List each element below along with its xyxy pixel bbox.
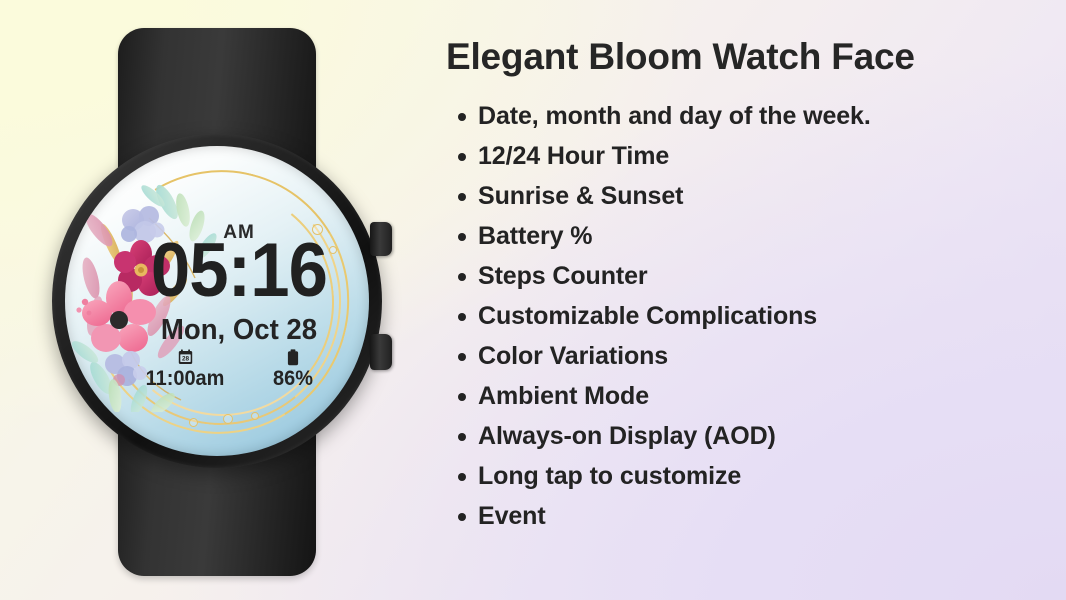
list-item: Long tap to customize <box>440 456 1040 496</box>
watch-face-complications: 28 11:00am 86% <box>143 348 335 391</box>
bullet-icon <box>458 153 466 161</box>
smartwatch-mockup: AM 05:16 Mon, Oct 28 28 <box>52 28 382 576</box>
feature-list: Date, month and day of the week. 12/24 H… <box>440 96 1040 536</box>
bullet-icon <box>458 193 466 201</box>
feature-label: Ambient Mode <box>478 382 649 410</box>
list-item: Customizable Complications <box>440 296 1040 336</box>
complication-battery-value: 86% <box>253 367 333 391</box>
list-item: Steps Counter <box>440 256 1040 296</box>
bullet-icon <box>458 313 466 321</box>
gold-wreath-bead <box>223 414 233 424</box>
feature-label: Battery % <box>478 222 592 250</box>
feature-label: Color Variations <box>478 342 668 370</box>
feature-label: Date, month and day of the week. <box>478 102 871 130</box>
complication-event-value: 11:00am <box>145 367 225 391</box>
list-item: Date, month and day of the week. <box>440 96 1040 136</box>
list-item: Event <box>440 496 1040 536</box>
watch-face-time: 05:16 <box>98 232 369 310</box>
battery-icon <box>251 348 335 366</box>
bullet-icon <box>458 393 466 401</box>
svg-text:28: 28 <box>181 356 189 363</box>
page-title: Elegant Bloom Watch Face <box>446 34 1040 80</box>
complication-event[interactable]: 28 11:00am <box>143 348 227 391</box>
list-item: Color Variations <box>440 336 1040 376</box>
gold-wreath-bead <box>189 418 198 427</box>
bullet-icon <box>458 473 466 481</box>
bullet-icon <box>458 433 466 441</box>
feature-label: Customizable Complications <box>478 302 817 330</box>
feature-label: Sunrise & Sunset <box>478 182 683 210</box>
calendar-icon: 28 <box>143 348 227 366</box>
feature-label: Event <box>478 502 546 530</box>
list-item: Sunrise & Sunset <box>440 176 1040 216</box>
bullet-icon <box>458 513 466 521</box>
watch-case: AM 05:16 Mon, Oct 28 28 <box>52 134 382 468</box>
bullet-icon <box>458 233 466 241</box>
gold-wreath-bead <box>251 412 259 420</box>
watch-side-button-top[interactable] <box>370 222 392 256</box>
watch-face-date: Mon, Oct 28 <box>95 314 369 347</box>
watch-side-button-bottom[interactable] <box>370 334 392 370</box>
list-item: Battery % <box>440 216 1040 256</box>
feature-label: Always-on Display (AOD) <box>478 422 776 450</box>
list-item: Always-on Display (AOD) <box>440 416 1040 456</box>
feature-label: Long tap to customize <box>478 462 741 490</box>
bullet-icon <box>458 113 466 121</box>
info-panel: Elegant Bloom Watch Face Date, month and… <box>440 34 1040 536</box>
feature-label: 12/24 Hour Time <box>478 142 669 170</box>
bullet-icon <box>458 273 466 281</box>
watch-face-screen[interactable]: AM 05:16 Mon, Oct 28 28 <box>65 146 369 456</box>
list-item: 12/24 Hour Time <box>440 136 1040 176</box>
bullet-icon <box>458 353 466 361</box>
promo-canvas: AM 05:16 Mon, Oct 28 28 <box>0 0 1066 600</box>
complication-battery[interactable]: 86% <box>251 348 335 391</box>
feature-label: Steps Counter <box>478 262 648 290</box>
list-item: Ambient Mode <box>440 376 1040 416</box>
